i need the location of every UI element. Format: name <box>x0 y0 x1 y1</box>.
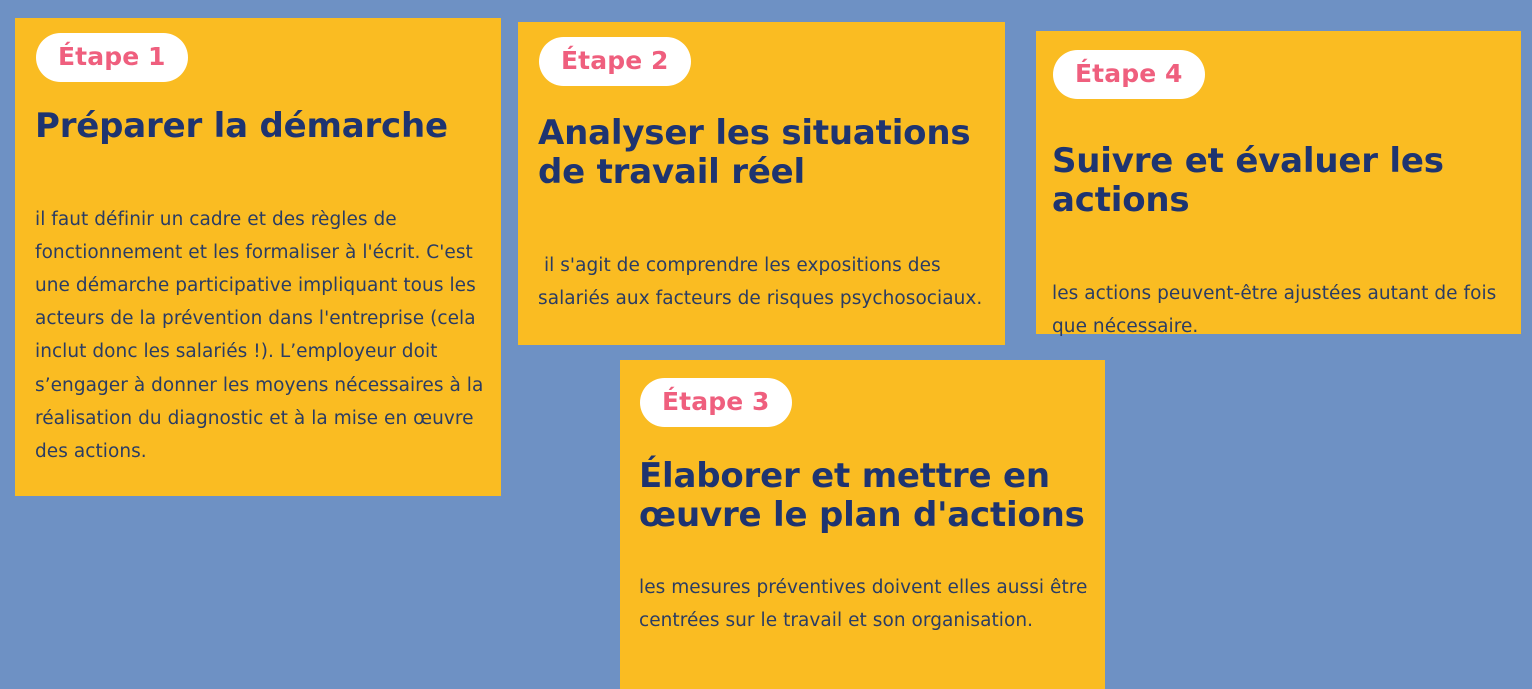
step-badge-3: Étape 3 <box>640 378 792 427</box>
steps-board: Étape 1 Préparer la démarche il faut déf… <box>0 0 1532 689</box>
step-body-4: les actions peuvent-être ajustées autant… <box>1052 277 1514 343</box>
step-body-2: il s'agit de comprendre les expositions … <box>538 249 994 315</box>
step-badge-2: Étape 2 <box>539 37 691 86</box>
step-body-3: les mesures préventives doivent elles au… <box>639 571 1091 637</box>
step-card-3: Étape 3 Élaborer et mettre en œuvre le p… <box>620 360 1105 689</box>
step-card-2: Étape 2 Analyser les situations de trava… <box>518 22 1005 345</box>
step-card-4: Étape 4 Suivre et évaluer les actions le… <box>1036 31 1521 334</box>
step-title-1: Préparer la démarche <box>35 107 485 146</box>
step-title-4: Suivre et évaluer les actions <box>1052 142 1492 221</box>
step-badge-1: Étape 1 <box>36 33 188 82</box>
step-badge-4: Étape 4 <box>1053 50 1205 99</box>
step-title-2: Analyser les situations de travail réel <box>538 114 993 193</box>
step-title-3: Élaborer et mettre en œuvre le plan d'ac… <box>639 457 1099 536</box>
step-body-1: il faut définir un cadre et des règles d… <box>35 203 491 468</box>
step-card-1: Étape 1 Préparer la démarche il faut déf… <box>15 18 501 496</box>
